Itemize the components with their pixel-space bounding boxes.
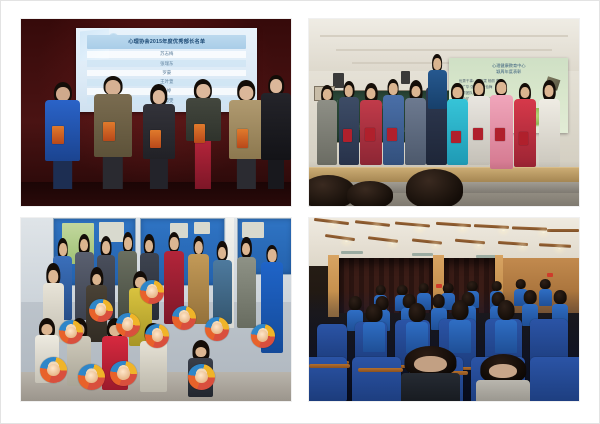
photo-grid: 心理协会2015年度优秀部长名单 苏志梅 张瑞东 罗豪 王叶萱 江婷 金慧雯 [21, 19, 579, 401]
student-figure [449, 320, 471, 353]
ceiling-light-icon [541, 231, 546, 234]
slide-title: 心理健康教育中心 颖周年度表彰 [459, 63, 559, 76]
photo-top-right[interactable]: 心理健康教育中心 颖周年度表彰 优秀干事：谢晓雯 杨丽 李静 李广华 张小丽 王… [309, 19, 579, 206]
wall-poster [194, 222, 210, 235]
seat-armrest [358, 368, 404, 372]
painted-plate [251, 324, 275, 348]
wall-poster [242, 222, 264, 238]
person-figure [405, 83, 427, 165]
photo-top-left[interactable]: 心理协会2015年度优秀部长名单 苏志梅 张瑞东 罗豪 王叶萱 江婷 金慧雯 [21, 19, 291, 206]
person-figure [468, 81, 490, 165]
student-figure [495, 320, 517, 353]
seated-audience [309, 161, 579, 206]
person-figure [186, 81, 221, 189]
student-figure [539, 289, 553, 305]
painted-plate [89, 299, 113, 323]
auditorium-seat [530, 357, 579, 401]
photo-collage: 心理协会2015年度优秀部长名单 苏志梅 张瑞东 罗豪 王叶萱 江婷 金慧雯 [0, 0, 600, 424]
slide-name-row: 苏志梅 [87, 51, 246, 58]
person-figure [237, 240, 256, 328]
foreground-person [476, 357, 530, 401]
ceiling-light-icon [390, 242, 395, 245]
person-figure [94, 77, 132, 189]
photo-bottom-right[interactable] [309, 218, 579, 401]
ceiling-light-icon [476, 244, 481, 247]
air-vent [341, 251, 363, 254]
ceiling-beam [547, 229, 579, 232]
person-figure [383, 81, 403, 165]
person-figure [339, 83, 359, 165]
ceiling-light-icon [501, 229, 506, 232]
person-figure [447, 84, 469, 164]
person-figure [213, 244, 232, 325]
seat-armrest [309, 364, 350, 368]
person-figure [317, 86, 337, 165]
slide-name-row: 张瑞东 [87, 60, 246, 67]
slide-title: 心理协会2015年度优秀部长名单 [87, 35, 246, 48]
painted-plate [172, 306, 196, 330]
person-figure [261, 77, 291, 189]
painted-plate [40, 357, 67, 383]
foreground-person [401, 350, 460, 401]
painted-plate [205, 317, 229, 341]
student-figure [363, 322, 385, 351]
person-figure [428, 56, 447, 153]
exit-sign-icon [547, 273, 553, 277]
person-figure [490, 81, 513, 169]
painted-plate [116, 313, 140, 337]
person-figure [229, 83, 264, 190]
person-figure [45, 84, 80, 189]
person-figure [143, 86, 175, 189]
exit-sign-icon [436, 284, 442, 288]
auditorium-seat [352, 357, 401, 401]
ceiling-light-icon [433, 244, 438, 247]
air-vent [412, 253, 434, 256]
slide-title-bar: 心理协会2015年度优秀部长名单 [87, 35, 246, 48]
painted-plate [140, 280, 164, 304]
painted-plate [78, 364, 105, 390]
person-figure [539, 83, 561, 167]
photo-bottom-left[interactable] [21, 218, 291, 401]
person-figure [360, 84, 382, 164]
person-figure [514, 84, 536, 166]
ceiling-light-icon [344, 240, 349, 243]
